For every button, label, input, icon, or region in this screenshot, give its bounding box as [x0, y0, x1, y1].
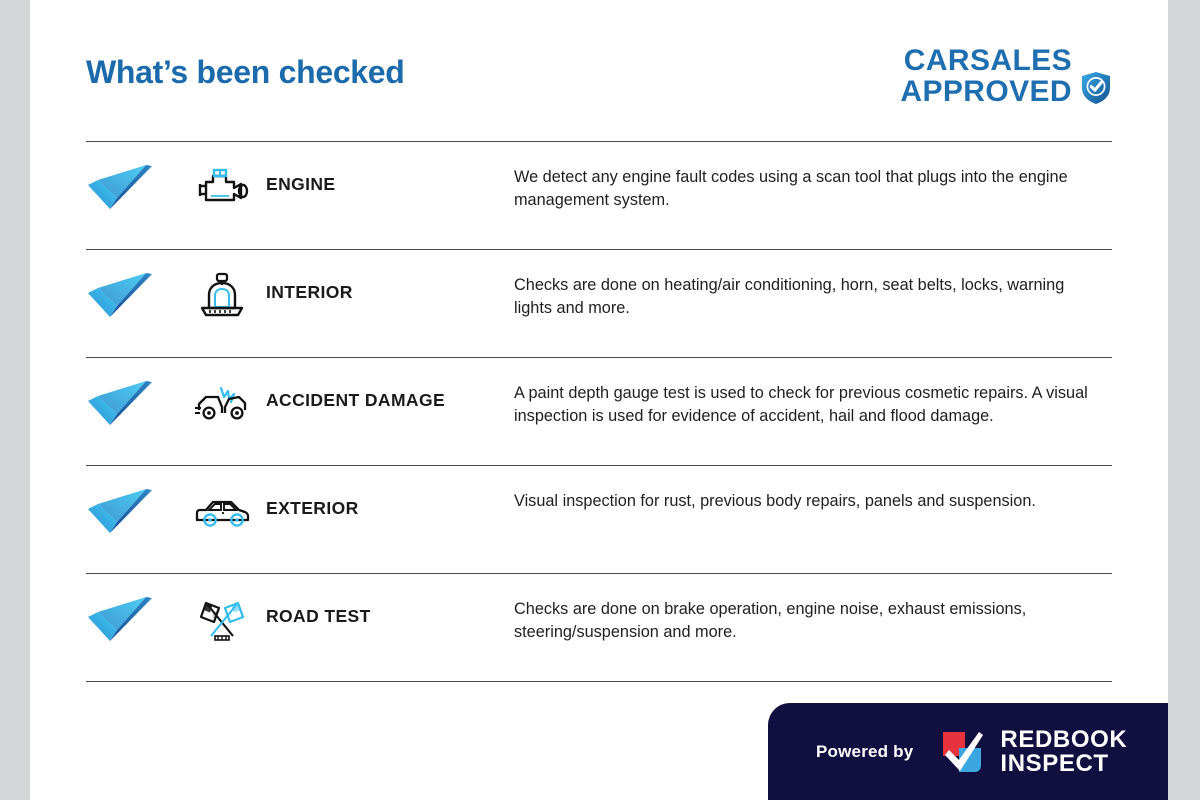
tick-cell	[86, 268, 178, 322]
check-description: We detect any engine fault codes using a…	[514, 160, 1112, 212]
check-description: Visual inspection for rust, previous bod…	[514, 484, 1112, 513]
redbook-line-1: REDBOOK	[1000, 728, 1127, 752]
blue-checkmark-icon	[86, 594, 154, 646]
tick-cell	[86, 592, 178, 646]
tick-cell	[86, 484, 178, 538]
row-divider	[86, 573, 1112, 574]
page-title: What’s been checked	[86, 54, 405, 91]
redbook-inspect-logo: REDBOOK INSPECT	[935, 726, 1127, 778]
car-side-icon	[193, 484, 251, 538]
row-divider	[86, 465, 1112, 466]
blue-checkmark-icon	[86, 378, 154, 430]
icon-cell	[178, 376, 266, 430]
blue-checkmark-icon	[86, 486, 154, 538]
redbook-check-mark-icon	[935, 726, 987, 778]
check-label: ACCIDENT DAMAGE	[266, 376, 514, 411]
engine-icon	[193, 160, 251, 214]
tick-cell	[86, 160, 178, 214]
carsales-approved-logo: CARSALES APPROVED	[900, 46, 1112, 107]
check-label: INTERIOR	[266, 268, 514, 303]
page-header: What’s been checked CARSALES APPROVED	[86, 38, 1112, 124]
check-row-exterior: EXTERIOR Visual inspection for rust, pre…	[86, 484, 1112, 538]
powered-by-footer-badge: Powered by REDBOOK INSPECT	[768, 703, 1168, 800]
blue-checkmark-icon	[86, 162, 154, 214]
document-page: What’s been checked CARSALES APPROVED	[30, 0, 1168, 800]
row-divider	[86, 681, 1112, 682]
carsales-approved-text: CARSALES APPROVED	[900, 46, 1072, 107]
car-seat-icon	[193, 268, 251, 322]
redbook-inspect-text: REDBOOK INSPECT	[1000, 728, 1127, 776]
blue-checkmark-icon	[86, 270, 154, 322]
check-label: ROAD TEST	[266, 592, 514, 627]
shield-check-icon	[1080, 71, 1112, 105]
check-row-road-test: ROAD TEST Checks are done on brake opera…	[86, 592, 1112, 646]
check-description: Checks are done on brake operation, engi…	[514, 592, 1112, 644]
icon-cell	[178, 484, 266, 538]
check-row-engine: ENGINE We detect any engine fault codes …	[86, 160, 1112, 214]
check-label: EXTERIOR	[266, 484, 514, 519]
powered-by-label: Powered by	[816, 742, 913, 762]
check-description: A paint depth gauge test is used to chec…	[514, 376, 1112, 428]
icon-cell	[178, 592, 266, 646]
check-row-accident-damage: ACCIDENT DAMAGE A paint depth gauge test…	[86, 376, 1112, 430]
row-divider	[86, 249, 1112, 250]
row-divider	[86, 141, 1112, 142]
check-description: Checks are done on heating/air condition…	[514, 268, 1112, 320]
car-crash-icon	[193, 376, 251, 430]
checkered-flags-icon	[193, 592, 251, 646]
check-row-interior: INTERIOR Checks are done on heating/air …	[86, 268, 1112, 322]
brand-line-2: APPROVED	[900, 77, 1072, 108]
redbook-line-2: INSPECT	[1000, 752, 1127, 776]
row-divider	[86, 357, 1112, 358]
tick-cell	[86, 376, 178, 430]
icon-cell	[178, 268, 266, 322]
icon-cell	[178, 160, 266, 214]
check-label: ENGINE	[266, 160, 514, 195]
brand-line-1: CARSALES	[900, 46, 1072, 77]
